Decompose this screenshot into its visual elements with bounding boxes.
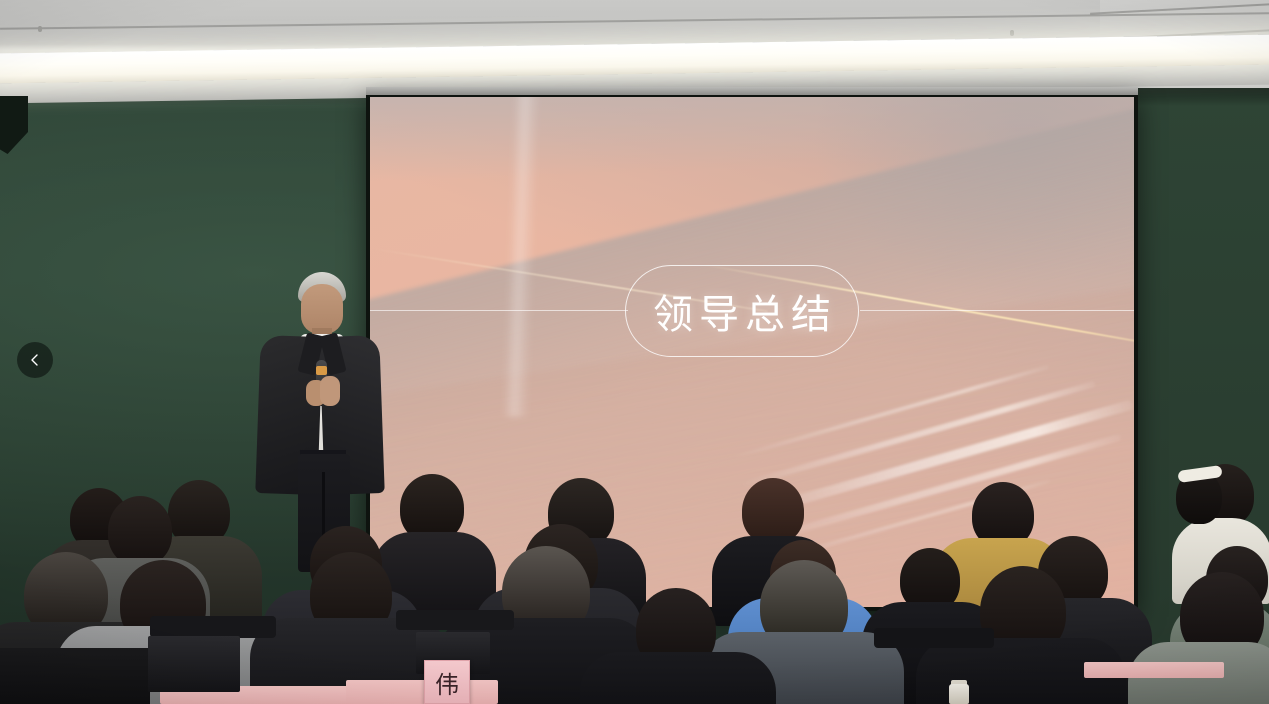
presenter-hand-right	[320, 376, 340, 406]
screenshot-stage: 领导总结	[0, 0, 1269, 704]
prev-button[interactable]	[17, 342, 53, 378]
table-pink-center	[346, 680, 498, 704]
chair-back	[874, 628, 994, 648]
audience-head	[742, 478, 804, 544]
microphone-band	[316, 366, 327, 375]
slide-title-text: 领导总结	[647, 282, 837, 340]
table-pink-right	[1084, 662, 1224, 678]
name-placard: 伟	[424, 660, 470, 704]
audience-body	[580, 652, 776, 704]
chevron-left-icon	[28, 353, 42, 367]
audience-head	[108, 496, 172, 566]
ceiling-seam	[0, 12, 1269, 30]
slide-title-pill: 领导总结	[625, 265, 859, 357]
name-placard-text: 伟	[435, 665, 459, 700]
ceiling-fixture-dot	[1010, 30, 1014, 36]
slide-hairline-right	[860, 310, 1134, 311]
presenter-head	[301, 284, 343, 334]
chair-back	[396, 610, 514, 630]
table-dark-left	[0, 648, 150, 704]
thermos-bottle	[949, 684, 969, 704]
laptop	[148, 636, 240, 692]
slide-hairline-left	[370, 310, 628, 311]
chair-back	[150, 616, 276, 638]
ceiling-fixture-dot	[38, 26, 42, 32]
